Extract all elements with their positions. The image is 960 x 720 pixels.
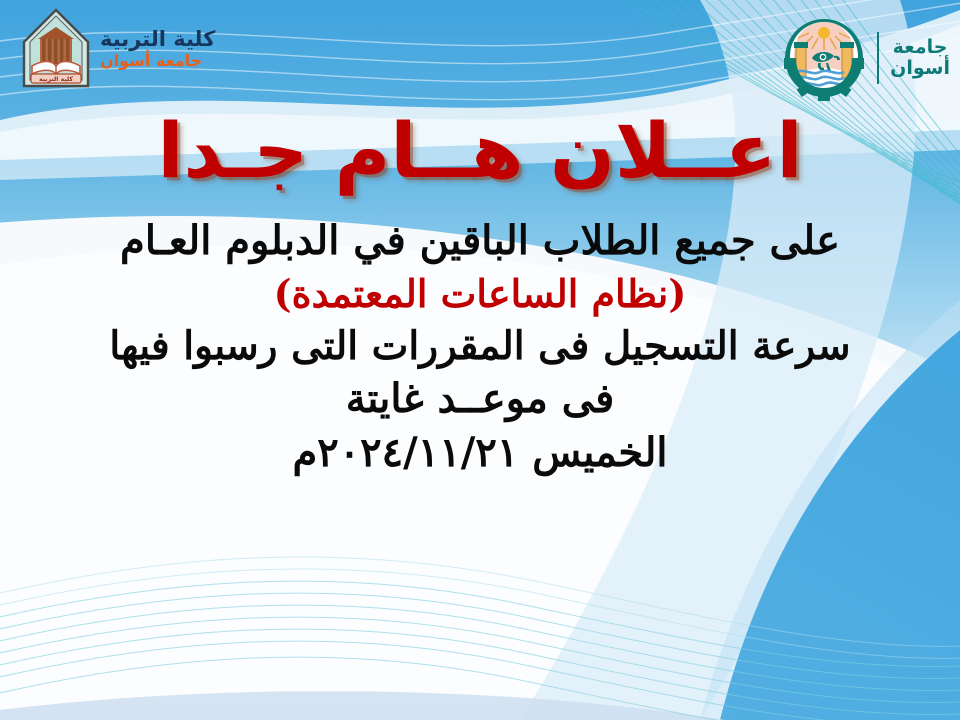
- faculty-logo: كلية التربية كلية التربية جامعة أسوان: [18, 8, 215, 94]
- logo-divider: [877, 32, 879, 84]
- body-line-3: سرعة التسجيل فى المقررات التى رسبوا فيها: [14, 321, 946, 372]
- university-logo: جامعة أسوان: [782, 14, 950, 102]
- university-name-line2: أسوان: [890, 58, 950, 79]
- aswan-university-crest-icon: [782, 14, 866, 102]
- announcement-content: اعــلان هــام جـدا على جميع الطلاب الباق…: [0, 108, 960, 481]
- university-name-line1: جامعة: [893, 37, 948, 58]
- body-line-5-deadline-date: الخميس ٢٠٢٤/١١/٢١م: [14, 427, 946, 479]
- crest-caption: كلية التربية: [39, 76, 73, 83]
- body-line-1: على جميع الطلاب الباقين في الدبلوم العـا…: [14, 215, 946, 267]
- body-line-2-credit-hours: (نظام الساعات المعتمدة): [14, 269, 946, 318]
- announcement-body: على جميع الطلاب الباقين في الدبلوم العـا…: [0, 215, 960, 479]
- body-line-4-deadline-label: فى موعــد غايتة: [14, 373, 946, 425]
- faculty-name: كلية التربية: [100, 27, 215, 52]
- education-faculty-crest-icon: كلية التربية: [18, 8, 94, 94]
- announcement-headline: اعــلان هــام جـدا: [0, 108, 960, 193]
- announcement-slide: كلية التربية كلية التربية جامعة أسوان جا…: [0, 0, 960, 720]
- faculty-university-name: جامعة أسوان: [100, 52, 202, 71]
